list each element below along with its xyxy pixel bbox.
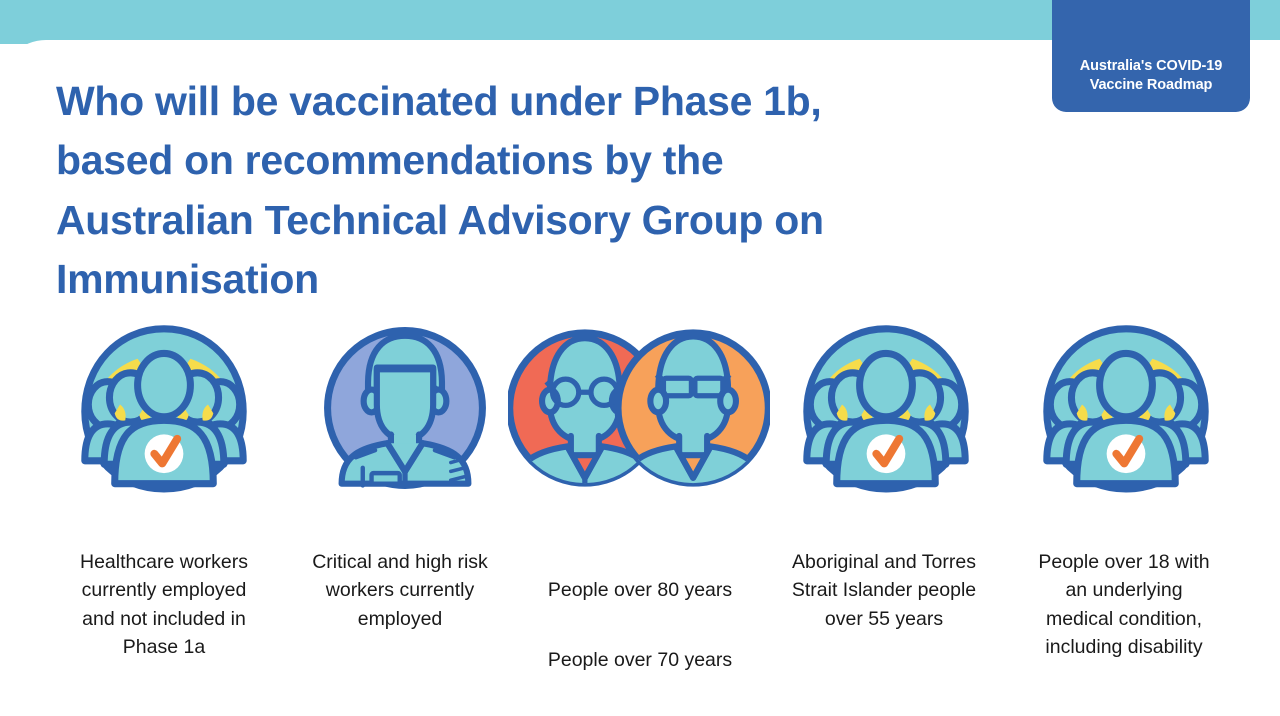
group-icon-underlying-condition [1038, 320, 1214, 501]
older-people-line-2: People over 70 years [548, 649, 732, 671]
crowd-check-icon [1038, 320, 1214, 496]
group-caption-healthcare-workers: Healthcare workers currently employed an… [44, 548, 284, 661]
uniformed-worker-icon [317, 320, 493, 496]
group-caption-aboriginal-torres-strait: Aboriginal and Torres Strait Islander pe… [762, 548, 1006, 633]
roadmap-badge: Australia's COVID-19 Vaccine Roadmap [1052, 0, 1250, 112]
caption-paragraph-gap [518, 605, 762, 618]
group-caption-older-people: People over 80 years People over 70 year… [518, 548, 762, 674]
group-icon-older-people [508, 320, 770, 501]
page-title: Who will be vaccinated under Phase 1b, b… [56, 72, 1056, 310]
group-caption-critical-high-risk-workers: Critical and high risk workers currently… [280, 548, 520, 633]
two-elderly-people-icon [508, 320, 770, 496]
crowd-check-icon [76, 320, 252, 496]
group-icon-critical-high-risk-workers [317, 320, 493, 501]
roadmap-badge-label: Australia's COVID-19 Vaccine Roadmap [1080, 57, 1222, 96]
older-people-line-1: People over 80 years [548, 579, 732, 601]
group-icon-healthcare-workers [76, 320, 252, 501]
crowd-check-icon [798, 320, 974, 496]
group-icon-aboriginal-torres-strait [798, 320, 974, 501]
group-caption-underlying-condition: People over 18 with an underlying medica… [1004, 548, 1244, 661]
icon-row [0, 320, 1280, 520]
